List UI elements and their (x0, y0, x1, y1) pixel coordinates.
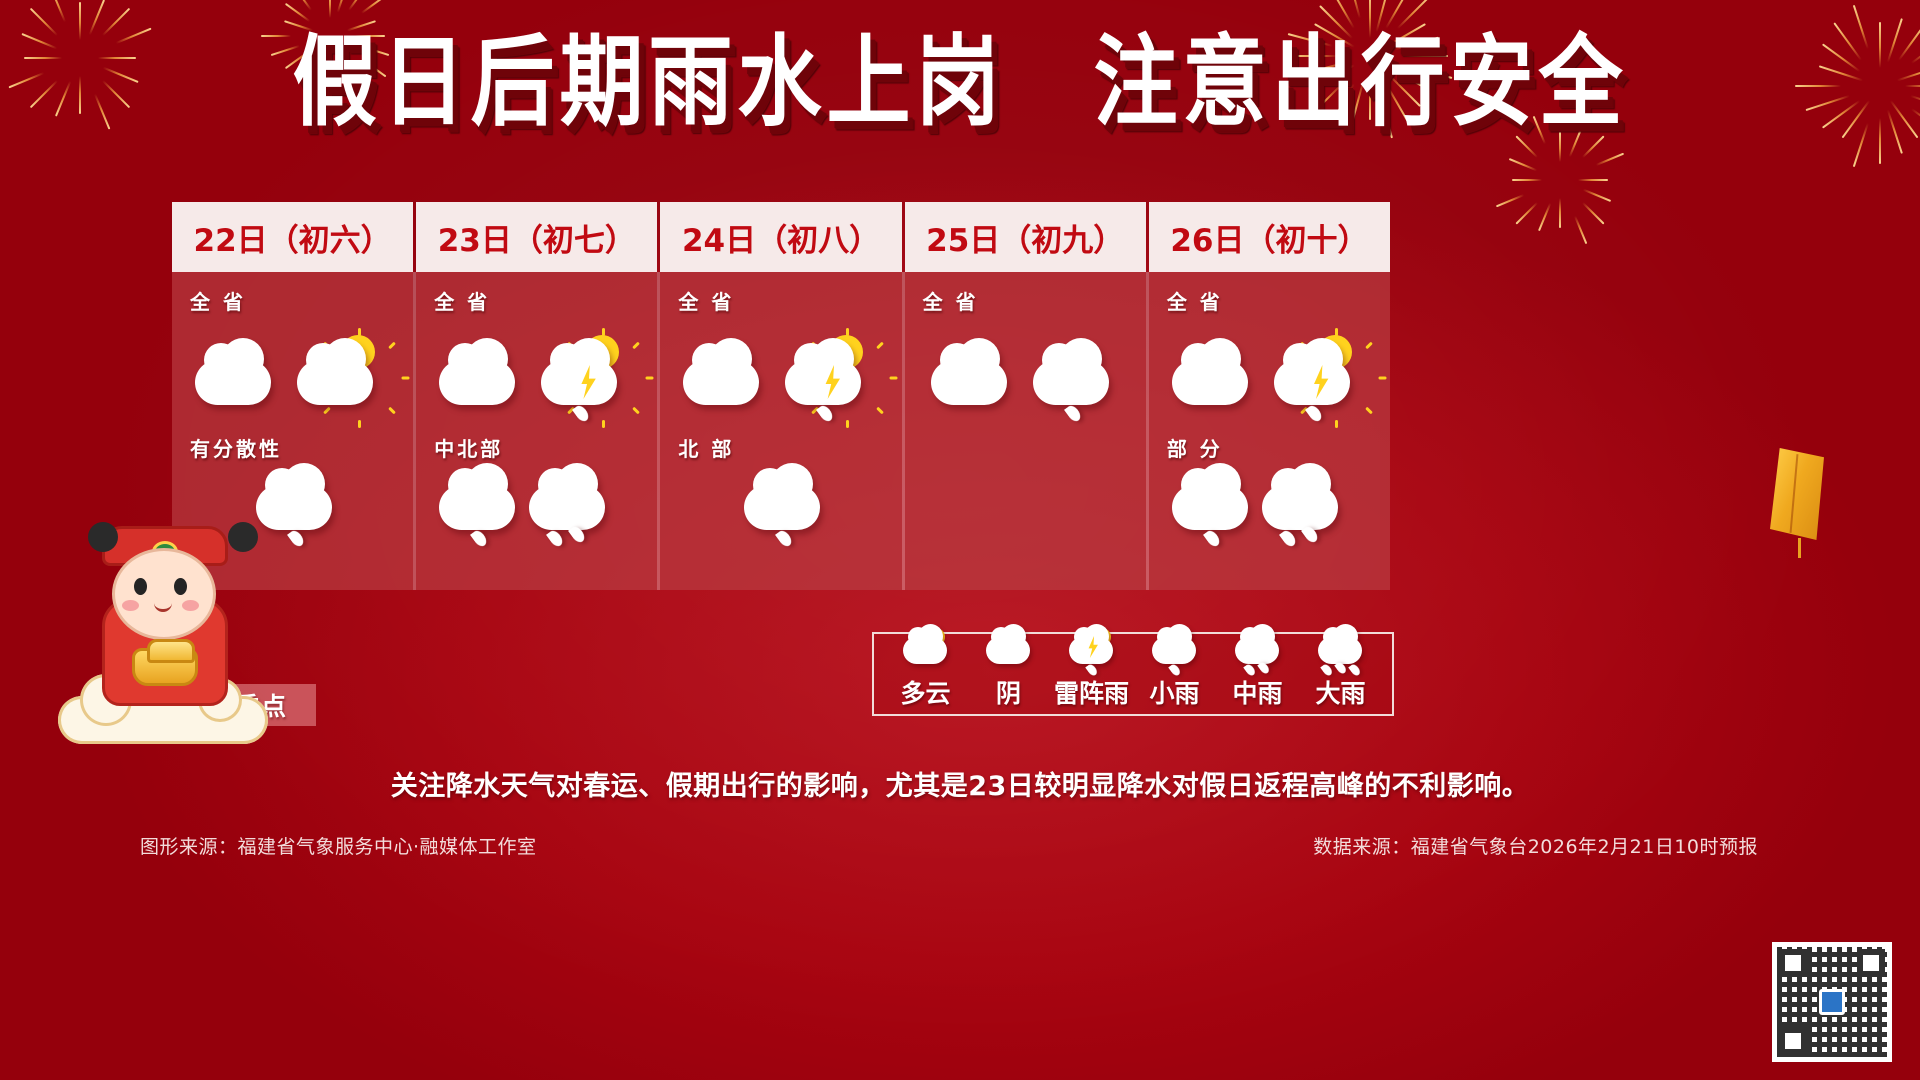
mascot-hair-bun-left (88, 522, 118, 552)
light-rain-icon (1144, 628, 1206, 672)
legend-label: 中雨 (1232, 674, 1282, 710)
weather-icon-row-bottom (678, 462, 883, 566)
rain-drops-group (1257, 526, 1341, 552)
forecast-header-cell-1: 22日（初六） (172, 202, 413, 272)
qr-code[interactable] (1772, 942, 1892, 1062)
cloudy-icon (434, 329, 530, 425)
thunderstorm-sun-icon (1269, 329, 1365, 425)
cloud-shape (439, 360, 515, 405)
raindrop-icon (568, 524, 587, 544)
mascot-head (112, 548, 216, 640)
legend-item-4: 小雨 (1133, 628, 1216, 710)
rain-drops-group (1167, 526, 1251, 552)
light-rain-icon (739, 466, 823, 550)
forecast-table: 22日（初六）23日（初七）24日（初八）25日（初九）26日（初十） 全 省有… (172, 202, 1390, 590)
raindrop-icon (546, 528, 565, 548)
raindrop-icon (572, 403, 591, 423)
region-label-top: 全 省 (1167, 286, 1372, 315)
weather-icon-row-top (923, 315, 1128, 427)
partly-cloudy-sun-icon (292, 329, 388, 425)
forecast-column-2: 全 省中北部 (416, 272, 657, 590)
rain-drops-group (434, 526, 518, 552)
cloud-shape (195, 360, 271, 405)
cloud-shape (1235, 637, 1279, 664)
cloud-shape (541, 360, 617, 405)
cloud-shape (903, 637, 947, 664)
cloud-shape (1172, 485, 1248, 530)
cloud-shape (744, 485, 820, 530)
cloud-shape (1274, 360, 1350, 405)
cloud-shape (785, 360, 861, 405)
region-label-top: 全 省 (190, 286, 395, 315)
raindrop-icon (1305, 403, 1324, 423)
forecast-column-4: 全 省 (905, 272, 1146, 590)
cloud-shape (1152, 637, 1196, 664)
forecast-header-cell-3: 24日（初八） (660, 202, 901, 272)
page-title: 假日后期雨水上岗 注意出行安全 (292, 30, 1627, 135)
heavy-rain-icon (1310, 628, 1372, 672)
cloudy-icon (190, 329, 286, 425)
mascot-cheek-right (182, 600, 199, 611)
moderate-rain-icon (1257, 466, 1341, 550)
cloud-shape (297, 360, 373, 405)
rain-drops-group (536, 401, 632, 427)
footer-source-left: 图形来源：福建省气象服务中心·融媒体工作室 (140, 832, 537, 859)
region-label-top: 全 省 (923, 286, 1128, 315)
region-label-top: 全 省 (678, 286, 883, 315)
weather-icon-row-bottom (923, 459, 1128, 563)
forecast-header-cell-5: 26日（初十） (1149, 202, 1390, 272)
forecast-header-cell-4: 25日（初九） (905, 202, 1146, 272)
cloud-shape (1172, 360, 1248, 405)
raindrop-icon (470, 528, 489, 548)
region-label-mid: 中北部 (434, 433, 639, 462)
light-rain-icon (434, 466, 518, 550)
rain-drops-group (524, 526, 608, 552)
cloud-shape (683, 360, 759, 405)
raindrop-icon (816, 403, 835, 423)
raindrop-icon (775, 528, 794, 548)
raindrop-icon (1301, 524, 1320, 544)
qr-finder-top-left (1779, 949, 1807, 977)
cloudy-icon (678, 329, 774, 425)
cloudy-icon (978, 628, 1040, 672)
legend-item-6: 大雨 (1299, 628, 1382, 710)
cloudy-icon (1167, 329, 1263, 425)
cloud-shape (529, 485, 605, 530)
page-title-container: 假日后期雨水上岗 注意出行安全 (0, 38, 1920, 127)
raindrop-icon (1279, 528, 1298, 548)
region-label-mid (923, 433, 1128, 459)
legend-label: 多云 (900, 674, 950, 710)
qr-code-pattern (1777, 947, 1887, 1057)
cloudy-icon (926, 329, 1022, 425)
thunderstorm-sun-icon (780, 329, 876, 425)
weather-icon-row-bottom (1167, 462, 1372, 566)
rain-drops-group (1028, 401, 1124, 427)
legend: 多云阴雷阵雨小雨中雨大雨 (872, 632, 1394, 716)
mascot-hair-bun-right (228, 522, 258, 552)
cloud-shape (986, 637, 1030, 664)
cloud-shape (1069, 637, 1113, 664)
forecast-header-cell-2: 23日（初七） (416, 202, 657, 272)
cloud-shape (439, 485, 515, 530)
thunderstorm-sun-icon (1061, 628, 1123, 672)
lantern-tassel (1798, 538, 1801, 558)
mascot-gold-ingot (132, 648, 198, 686)
raindrop-icon (1064, 403, 1083, 423)
weather-icon-row-top (434, 315, 639, 427)
footer-source-right: 数据来源：福建省气象台2026年2月21日10时预报 (1313, 832, 1758, 859)
region-label-mid: 北 部 (678, 433, 883, 462)
region-label-mid: 部 分 (1167, 433, 1372, 462)
cloud-shape (931, 360, 1007, 405)
mascot-cheek-left (122, 600, 139, 611)
rain-drops-group (1269, 401, 1365, 427)
legend-label: 雷阵雨 (1054, 674, 1129, 710)
legend-item-1: 多云 (884, 628, 967, 710)
mascot-eye-left (134, 578, 147, 595)
forecast-header-row: 22日（初六）23日（初七）24日（初八）25日（初九）26日（初十） (172, 202, 1390, 272)
rain-drops-group (739, 526, 823, 552)
rain-drops-group (780, 401, 876, 427)
cloud-shape (1262, 485, 1338, 530)
cloud-shape (1033, 360, 1109, 405)
weather-icon-row-top (678, 315, 883, 427)
qr-finder-top-right (1857, 949, 1885, 977)
forecast-column-5: 全 省部 分 (1149, 272, 1390, 590)
light-rain-icon (1028, 329, 1124, 425)
raindrop-icon (1203, 528, 1222, 548)
lantern-icon (1770, 448, 1824, 540)
weather-icon-row-top (1167, 315, 1372, 427)
qr-finder-bottom-left (1779, 1027, 1807, 1055)
light-rain-icon (1167, 466, 1251, 550)
highlight-text: 关注降水天气对春运、假期出行的影响，尤其是23日较明显降水对假日返程高峰的不利影… (391, 771, 1530, 802)
thunderstorm-sun-icon (536, 329, 632, 425)
forecast-column-3: 全 省北 部 (660, 272, 901, 590)
moderate-rain-icon (1227, 628, 1289, 672)
forecast-body-row: 全 省有分散性全 省中北部全 省北 部全 省全 省部 分 (172, 272, 1390, 590)
moderate-rain-icon (524, 466, 608, 550)
cloud-shape (1318, 637, 1362, 664)
region-label-mid: 有分散性 (190, 433, 395, 462)
weather-icon-row-top (190, 315, 395, 427)
highlight-container: 关注降水天气对春运、假期出行的影响，尤其是23日较明显降水对假日返程高峰的不利影… (0, 764, 1920, 803)
raindrop-icon (287, 528, 306, 548)
weather-icon-row-bottom (434, 462, 639, 566)
qr-center-logo (1819, 989, 1845, 1015)
partly-cloudy-sun-icon (895, 628, 957, 672)
legend-label: 大雨 (1315, 674, 1365, 710)
legend-item-3: 雷阵雨 (1050, 628, 1133, 710)
legend-item-5: 中雨 (1216, 628, 1299, 710)
mascot-illustration (58, 520, 288, 750)
legend-label: 小雨 (1149, 674, 1199, 710)
legend-item-2: 阴 (967, 628, 1050, 710)
mascot-eye-right (174, 578, 187, 595)
region-label-top: 全 省 (434, 286, 639, 315)
legend-label: 阴 (996, 674, 1021, 710)
